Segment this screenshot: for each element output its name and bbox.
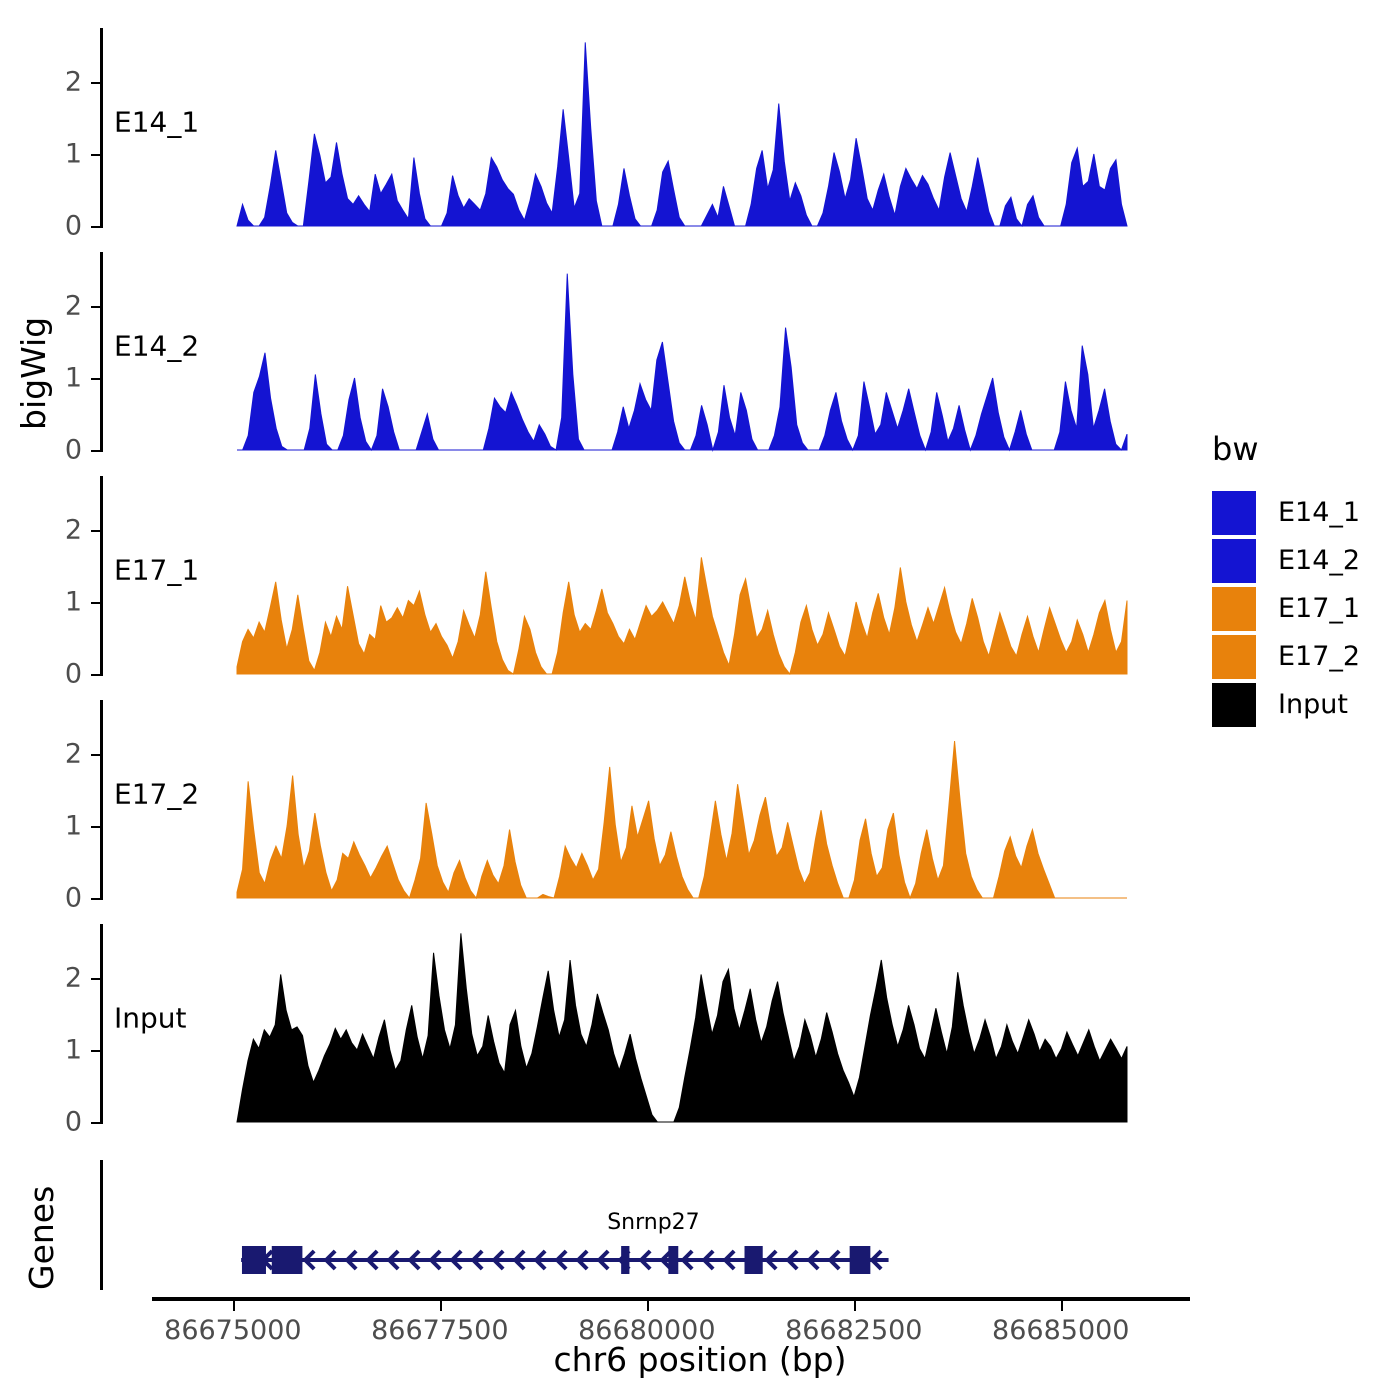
legend-label: E14_2 <box>1278 545 1360 576</box>
track-area-e17_1 <box>100 476 1190 676</box>
y-tick-label: 1 <box>65 587 82 618</box>
track-area-input <box>100 924 1190 1124</box>
gene-track-panel: Snrnp27 <box>100 1160 1190 1290</box>
y-tick-label: 2 <box>65 67 82 98</box>
y-tick-label: 1 <box>65 1035 82 1066</box>
y-tick <box>91 450 100 452</box>
y-tick <box>91 674 100 676</box>
legend-swatch <box>1212 491 1256 535</box>
y-tick-label: 1 <box>65 811 82 842</box>
y-tick <box>91 306 100 308</box>
y-tick-label: 0 <box>65 435 82 466</box>
y-tick-label: 0 <box>65 1107 82 1138</box>
y-tick-label: 2 <box>65 739 82 770</box>
y-tick-label: 2 <box>65 963 82 994</box>
legend: bw E14_1E14_2E17_1E17_2Input <box>1212 430 1360 730</box>
legend-swatch <box>1212 587 1256 631</box>
y-tick <box>91 1050 100 1052</box>
track-panel-e14_2: 012E14_2 <box>100 252 1190 452</box>
legend-item-e17_2[interactable]: E17_2 <box>1212 634 1360 679</box>
x-tick <box>440 1301 442 1311</box>
gene-model <box>100 1160 1190 1290</box>
track-panel-e14_1: 012E14_1 <box>100 28 1190 228</box>
y-tick <box>91 1122 100 1124</box>
y-tick <box>91 602 100 604</box>
y-tick-label: 2 <box>65 515 82 546</box>
y-tick <box>91 978 100 980</box>
legend-item-input[interactable]: Input <box>1212 682 1360 727</box>
x-tick <box>647 1301 649 1311</box>
legend-item-e17_1[interactable]: E17_1 <box>1212 586 1360 631</box>
track-panel-input: 012Input <box>100 924 1190 1124</box>
legend-swatch <box>1212 635 1256 679</box>
y-tick-label: 0 <box>65 659 82 690</box>
genes-axis-title: Genes <box>22 1186 61 1290</box>
legend-label: E14_1 <box>1278 497 1360 528</box>
legend-label: E17_1 <box>1278 593 1360 624</box>
legend-title: bw <box>1212 430 1360 468</box>
y-tick-label: 1 <box>65 139 82 170</box>
y-tick <box>91 530 100 532</box>
x-tick <box>854 1301 856 1311</box>
y-tick-label: 0 <box>65 211 82 242</box>
track-area-e17_2 <box>100 700 1190 900</box>
track-area-e14_1 <box>100 28 1190 228</box>
legend-item-e14_2[interactable]: E14_2 <box>1212 538 1360 583</box>
legend-label: E17_2 <box>1278 641 1360 672</box>
y-tick <box>91 898 100 900</box>
y-tick <box>91 378 100 380</box>
y-tick-label: 1 <box>65 363 82 394</box>
y-tick <box>91 754 100 756</box>
legend-swatch <box>1212 683 1256 727</box>
legend-swatch <box>1212 539 1256 583</box>
x-axis-title: chr6 position (bp) <box>0 1340 1400 1379</box>
track-panel-e17_1: 012E17_1 <box>100 476 1190 676</box>
legend-label: Input <box>1278 689 1348 720</box>
y-tick <box>91 82 100 84</box>
x-tick <box>233 1301 235 1311</box>
y-tick <box>91 826 100 828</box>
legend-item-e14_1[interactable]: E14_1 <box>1212 490 1360 535</box>
y-tick-label: 0 <box>65 883 82 914</box>
x-tick <box>1061 1301 1063 1311</box>
y-axis-title: bigWig <box>14 317 53 430</box>
track-area-e14_2 <box>100 252 1190 452</box>
y-tick-label: 2 <box>65 291 82 322</box>
track-panel-e17_2: 012E17_2 <box>100 700 1190 900</box>
x-axis-line <box>152 1297 1190 1301</box>
y-tick <box>91 154 100 156</box>
y-tick <box>91 226 100 228</box>
